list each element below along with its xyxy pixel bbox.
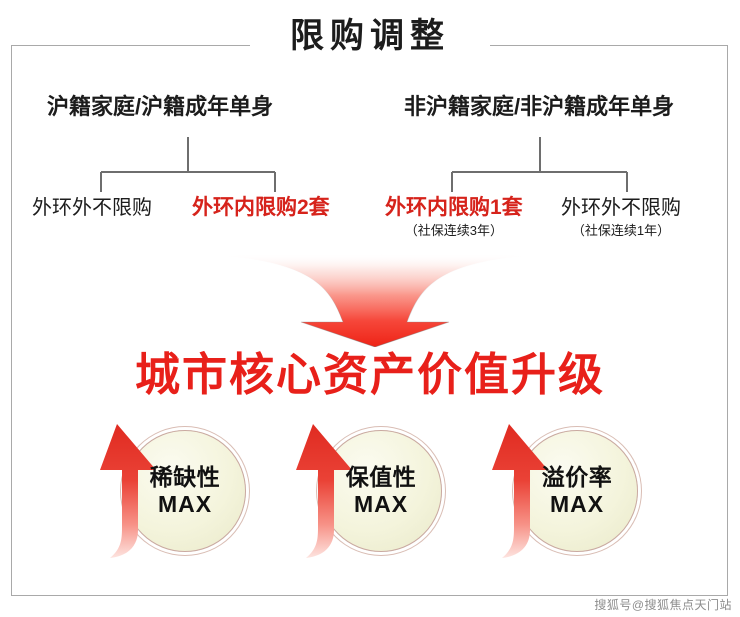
badge-text: 保值性 MAX bbox=[320, 430, 442, 552]
leaf-label-outer-ring-local: 外环外不限购 bbox=[32, 198, 152, 218]
badge-label-cn: 溢价率 bbox=[542, 464, 613, 491]
leaf-label-inner-ring-nonlocal: 外环内限购1套 （社保连续3年） bbox=[385, 197, 523, 237]
column-header-nonlocal: 非沪籍家庭/非沪籍成年单身 bbox=[404, 96, 674, 118]
headline-text: 城市核心资产价值升级 bbox=[0, 352, 740, 397]
leaf-label-outer-ring-nonlocal: 外环外不限购 （社保连续1年） bbox=[561, 198, 681, 237]
watermark: 搜狐号@搜狐焦点天门站 bbox=[594, 596, 732, 613]
badge-label-en: MAX bbox=[550, 491, 604, 518]
feature-badge: 溢价率 MAX bbox=[462, 418, 662, 563]
feature-badge: 稀缺性 MAX bbox=[70, 418, 270, 563]
feature-badge-group: 稀缺性 MAX 保值性 MAX bbox=[0, 418, 740, 563]
leaf-main-text: 外环内限购2套 bbox=[192, 197, 330, 218]
leaf-note-text: （社保连续1年） bbox=[561, 224, 681, 237]
column-header-local: 沪籍家庭/沪籍成年单身 bbox=[47, 96, 273, 118]
leaf-main-text: 外环外不限购 bbox=[561, 198, 681, 218]
badge-text: 溢价率 MAX bbox=[516, 430, 638, 552]
leaf-note-text: （社保连续3年） bbox=[385, 224, 523, 237]
badge-label-en: MAX bbox=[354, 491, 408, 518]
leaf-main-text: 外环外不限购 bbox=[32, 198, 152, 218]
badge-text: 稀缺性 MAX bbox=[124, 430, 246, 552]
badge-label-cn: 稀缺性 bbox=[150, 464, 221, 491]
page-title: 限购调整 bbox=[0, 19, 740, 53]
feature-badge: 保值性 MAX bbox=[266, 418, 466, 563]
leaf-label-inner-ring-local: 外环内限购2套 bbox=[192, 197, 330, 218]
badge-label-cn: 保值性 bbox=[346, 464, 417, 491]
leaf-main-text: 外环内限购1套 bbox=[385, 197, 523, 218]
infographic-canvas: 限购调整 沪籍家庭/沪籍成年单身 非沪籍家庭/非沪籍成年单身 外环外不限购 外环… bbox=[0, 0, 740, 617]
funnel-down-arrow-icon bbox=[205, 252, 545, 347]
badge-label-en: MAX bbox=[158, 491, 212, 518]
